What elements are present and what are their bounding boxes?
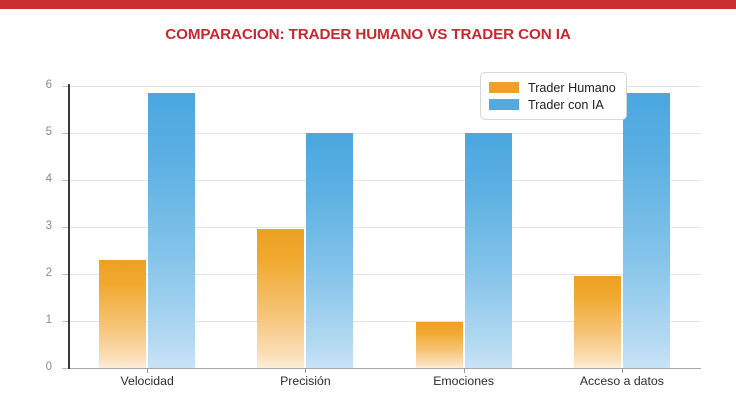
- legend-swatch-icon-human: [489, 82, 519, 93]
- bar-ai-4: [623, 93, 670, 368]
- y-tick-label: 3: [0, 221, 52, 233]
- x-axis-label-1: Velocidad: [68, 374, 226, 388]
- chart-legend: Trader Humano Trader con IA: [480, 72, 627, 120]
- y-tick-label: 4: [0, 174, 52, 186]
- y-tick-label: 0: [0, 362, 52, 374]
- x-axis-label-3: Emociones: [385, 374, 543, 388]
- chart-page: COMPARACION: TRADER HUMANO VS TRADER CON…: [0, 0, 736, 412]
- bar-human-1: [99, 260, 146, 368]
- y-tick-label: 1: [0, 315, 52, 327]
- bar-human-4: [574, 276, 621, 368]
- x-axis-label-4: Acceso a datos: [543, 374, 701, 388]
- x-axis-line: [68, 368, 701, 369]
- bar-human-2: [257, 229, 304, 368]
- y-tick-label: 5: [0, 127, 52, 139]
- legend-swatch-icon-ai: [489, 99, 519, 110]
- x-tick-mark: [147, 368, 148, 373]
- legend-label-human: Trader Humano: [528, 81, 616, 95]
- x-tick-mark: [305, 368, 306, 373]
- y-tick-label: 2: [0, 268, 52, 280]
- bar-human-3: [416, 322, 463, 368]
- x-tick-mark: [622, 368, 623, 373]
- x-tick-mark: [464, 368, 465, 373]
- bar-chart: 0123456 VelocidadPrecisiónEmocionesAcces…: [0, 0, 736, 412]
- legend-item-trader-con-ia: Trader con IA: [489, 96, 616, 113]
- x-axis-label-2: Precisión: [226, 374, 384, 388]
- bar-ai-3: [465, 133, 512, 368]
- bar-ai-1: [148, 93, 195, 368]
- bar-ai-2: [306, 133, 353, 368]
- legend-label-ai: Trader con IA: [528, 98, 604, 112]
- y-tick-label: 6: [0, 80, 52, 92]
- y-axis-line: [68, 84, 70, 369]
- legend-item-trader-humano: Trader Humano: [489, 79, 616, 96]
